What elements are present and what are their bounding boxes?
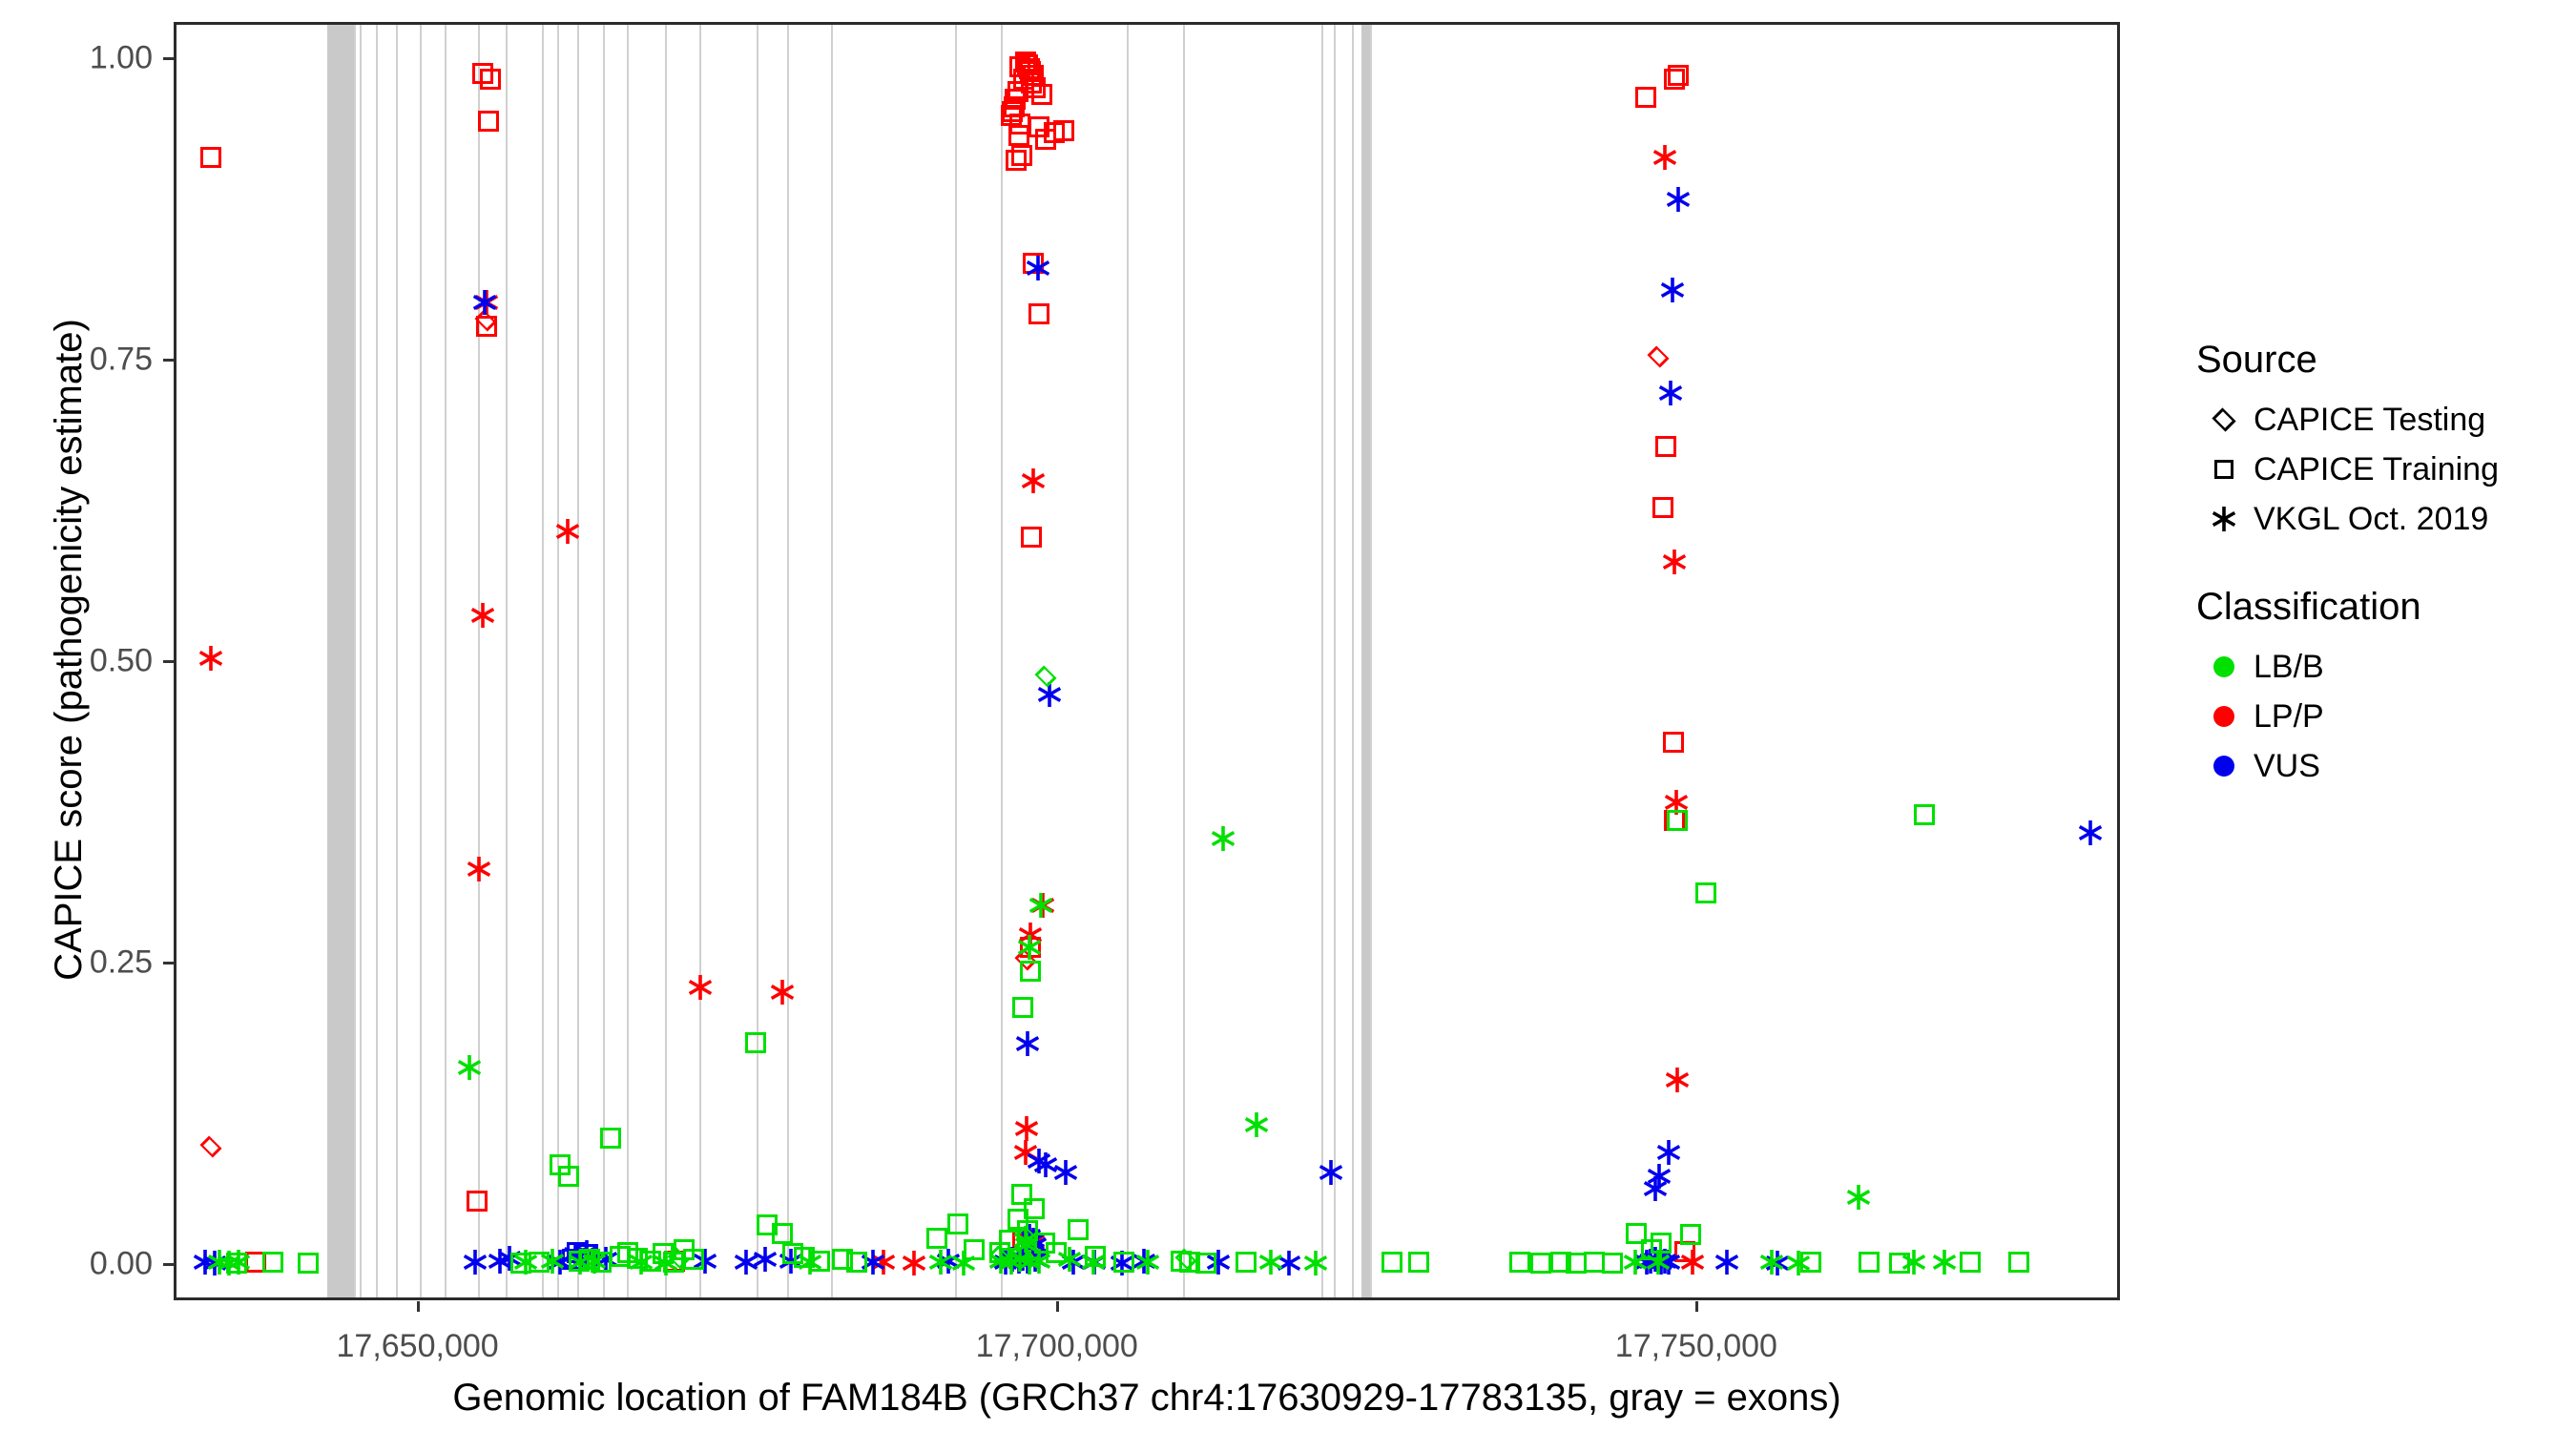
point-asterisk — [1664, 185, 1693, 214]
point-asterisk — [1900, 1248, 1928, 1276]
y-tick-label: 1.00 — [19, 39, 153, 76]
point-asterisk — [1024, 254, 1052, 282]
point-square — [1021, 527, 1042, 548]
point-asterisk — [1242, 1110, 1271, 1139]
asterisk-icon — [2194, 505, 2254, 533]
point-square — [947, 1213, 968, 1234]
point-asterisk — [2076, 819, 2105, 847]
asterisk-icon — [2210, 505, 2238, 533]
point-square — [745, 1032, 766, 1053]
point-asterisk — [1784, 1249, 1813, 1277]
point-square — [1914, 804, 1935, 825]
x-tick-mark — [417, 1301, 420, 1312]
square-icon — [2214, 460, 2233, 479]
point-asterisk — [1257, 1248, 1285, 1276]
point-asterisk — [1015, 933, 1044, 962]
x-tick-label: 17,650,000 — [337, 1328, 499, 1365]
point-square — [262, 1252, 283, 1273]
point-asterisk — [465, 855, 493, 883]
dot-icon — [2194, 756, 2254, 777]
point-square — [600, 1128, 621, 1149]
point-asterisk — [796, 1248, 824, 1276]
point-square — [1530, 1253, 1551, 1274]
x-axis-title: Genomic location of FAM184B (GRCh37 chr4… — [174, 1377, 2120, 1420]
point-square — [1668, 65, 1689, 86]
point-square — [1113, 1252, 1134, 1273]
point-asterisk — [1133, 1248, 1162, 1276]
point-asterisk — [1317, 1158, 1345, 1187]
legend-title-classification: Classification — [2196, 586, 2576, 629]
point-asterisk — [538, 1247, 567, 1275]
y-tick-label: 0.00 — [19, 1246, 153, 1283]
point-asterisk — [580, 1247, 609, 1275]
point-square — [480, 69, 501, 90]
point-square — [1031, 84, 1052, 105]
point-square — [200, 147, 221, 168]
point-asterisk — [468, 601, 497, 630]
point-square — [1068, 1219, 1089, 1240]
point-square — [1008, 125, 1029, 146]
y-tick-label: 0.25 — [19, 944, 153, 982]
point-square — [772, 1223, 793, 1244]
legend-item[interactable]: LP/P — [2194, 692, 2576, 741]
y-tick-label: 0.75 — [19, 341, 153, 378]
point-square — [1509, 1252, 1530, 1273]
point-square — [1655, 436, 1676, 457]
x-tick-mark — [1056, 1301, 1059, 1312]
legend-item-label: VUS — [2254, 748, 2320, 785]
chart-figure: CAPICE score (pathogenicity estimate) 0.… — [0, 0, 2576, 1431]
y-tick-mark — [163, 57, 174, 60]
point-square — [1028, 303, 1049, 324]
dot-icon — [2194, 656, 2254, 677]
legend-item-label: LB/B — [2254, 649, 2324, 686]
x-tick-label: 17,700,000 — [976, 1328, 1138, 1365]
point-asterisk — [224, 1248, 253, 1276]
point-asterisk — [470, 288, 499, 317]
point-asterisk — [1844, 1183, 1873, 1212]
point-asterisk — [511, 1248, 540, 1276]
square-icon — [2194, 460, 2254, 479]
point-square — [1960, 1252, 1981, 1273]
point-asterisk — [949, 1249, 978, 1277]
point-asterisk — [553, 517, 582, 546]
point-asterisk — [1930, 1248, 1959, 1276]
point-asterisk — [1654, 1138, 1683, 1167]
point-asterisk — [768, 978, 797, 1006]
legend-title-source: Source — [2196, 339, 2576, 382]
point-square — [1381, 1252, 1402, 1273]
y-tick-mark — [163, 1263, 174, 1266]
point-square — [1663, 732, 1684, 753]
point-square — [1667, 810, 1688, 831]
point-diamond — [1647, 345, 1669, 367]
point-square — [1859, 1252, 1880, 1273]
x-tick-label: 17,750,000 — [1615, 1328, 1777, 1365]
point-asterisk — [751, 1245, 779, 1274]
point-square — [1236, 1252, 1257, 1273]
point-square — [467, 1191, 488, 1212]
point-square — [1652, 497, 1673, 518]
legend-item-label: CAPICE Testing — [2254, 402, 2485, 439]
data-points-layer — [177, 25, 2117, 1297]
point-asterisk — [1644, 1248, 1672, 1276]
legend-item[interactable]: CAPICE Training — [2194, 445, 2576, 494]
y-tick-mark — [163, 359, 174, 362]
diamond-icon — [2194, 410, 2254, 429]
dot-icon — [2194, 706, 2254, 727]
point-square — [846, 1252, 867, 1273]
point-square — [1195, 1253, 1216, 1274]
point-square — [1635, 87, 1656, 108]
point-square — [1020, 961, 1041, 982]
point-asterisk — [1660, 548, 1689, 576]
point-square — [558, 1166, 579, 1187]
diamond-icon — [2212, 407, 2235, 431]
point-asterisk — [1713, 1248, 1741, 1276]
point-asterisk — [1051, 1158, 1080, 1187]
point-square — [1006, 150, 1027, 171]
point-asterisk — [1658, 276, 1687, 304]
point-asterisk — [1641, 1174, 1670, 1203]
point-asterisk — [1019, 467, 1048, 495]
legend-item[interactable]: VKGL Oct. 2019 — [2194, 494, 2576, 544]
x-tick-mark — [1695, 1301, 1698, 1312]
point-asterisk — [1079, 1248, 1108, 1276]
point-asterisk — [1209, 824, 1237, 853]
legend-item[interactable]: VUS — [2194, 741, 2576, 791]
point-asterisk — [1301, 1249, 1330, 1277]
point-asterisk — [686, 973, 715, 1002]
y-tick-mark — [163, 962, 174, 964]
y-tick-label: 0.50 — [19, 643, 153, 680]
point-square — [1680, 1224, 1701, 1245]
point-square — [478, 111, 499, 132]
point-asterisk — [1663, 1066, 1692, 1094]
point-asterisk — [900, 1249, 928, 1277]
point-asterisk — [1757, 1248, 1786, 1276]
point-asterisk — [1013, 1029, 1042, 1058]
point-square — [1602, 1253, 1623, 1274]
point-diamond — [199, 1135, 221, 1157]
point-asterisk — [1027, 891, 1055, 920]
point-asterisk — [1656, 379, 1685, 407]
point-square — [1012, 997, 1033, 1018]
point-square — [1695, 882, 1716, 903]
chart-legend: SourceCAPICE TestingCAPICE TrainingVKGL … — [2194, 339, 2576, 791]
point-square — [298, 1253, 319, 1274]
point-asterisk — [1651, 143, 1679, 172]
y-tick-mark — [163, 660, 174, 663]
point-square — [1408, 1252, 1429, 1273]
point-asterisk — [455, 1053, 484, 1082]
plot-panel — [174, 22, 2120, 1300]
point-asterisk — [197, 644, 225, 673]
point-asterisk — [1012, 1231, 1041, 1259]
point-square — [1024, 1198, 1045, 1219]
point-square — [926, 1228, 947, 1249]
legend-item-label: VKGL Oct. 2019 — [2254, 501, 2488, 538]
legend-item-label: LP/P — [2254, 698, 2324, 736]
legend-item-label: CAPICE Training — [2254, 451, 2499, 488]
point-square — [1044, 122, 1065, 143]
dot-icon — [2213, 706, 2234, 727]
dot-icon — [2213, 656, 2234, 677]
legend-item[interactable]: CAPICE Testing — [2194, 395, 2576, 445]
legend-section-gap — [2194, 544, 2576, 586]
point-asterisk — [652, 1249, 680, 1277]
legend-item[interactable]: LB/B — [2194, 642, 2576, 692]
point-square — [2008, 1252, 2029, 1273]
dot-icon — [2213, 756, 2234, 777]
